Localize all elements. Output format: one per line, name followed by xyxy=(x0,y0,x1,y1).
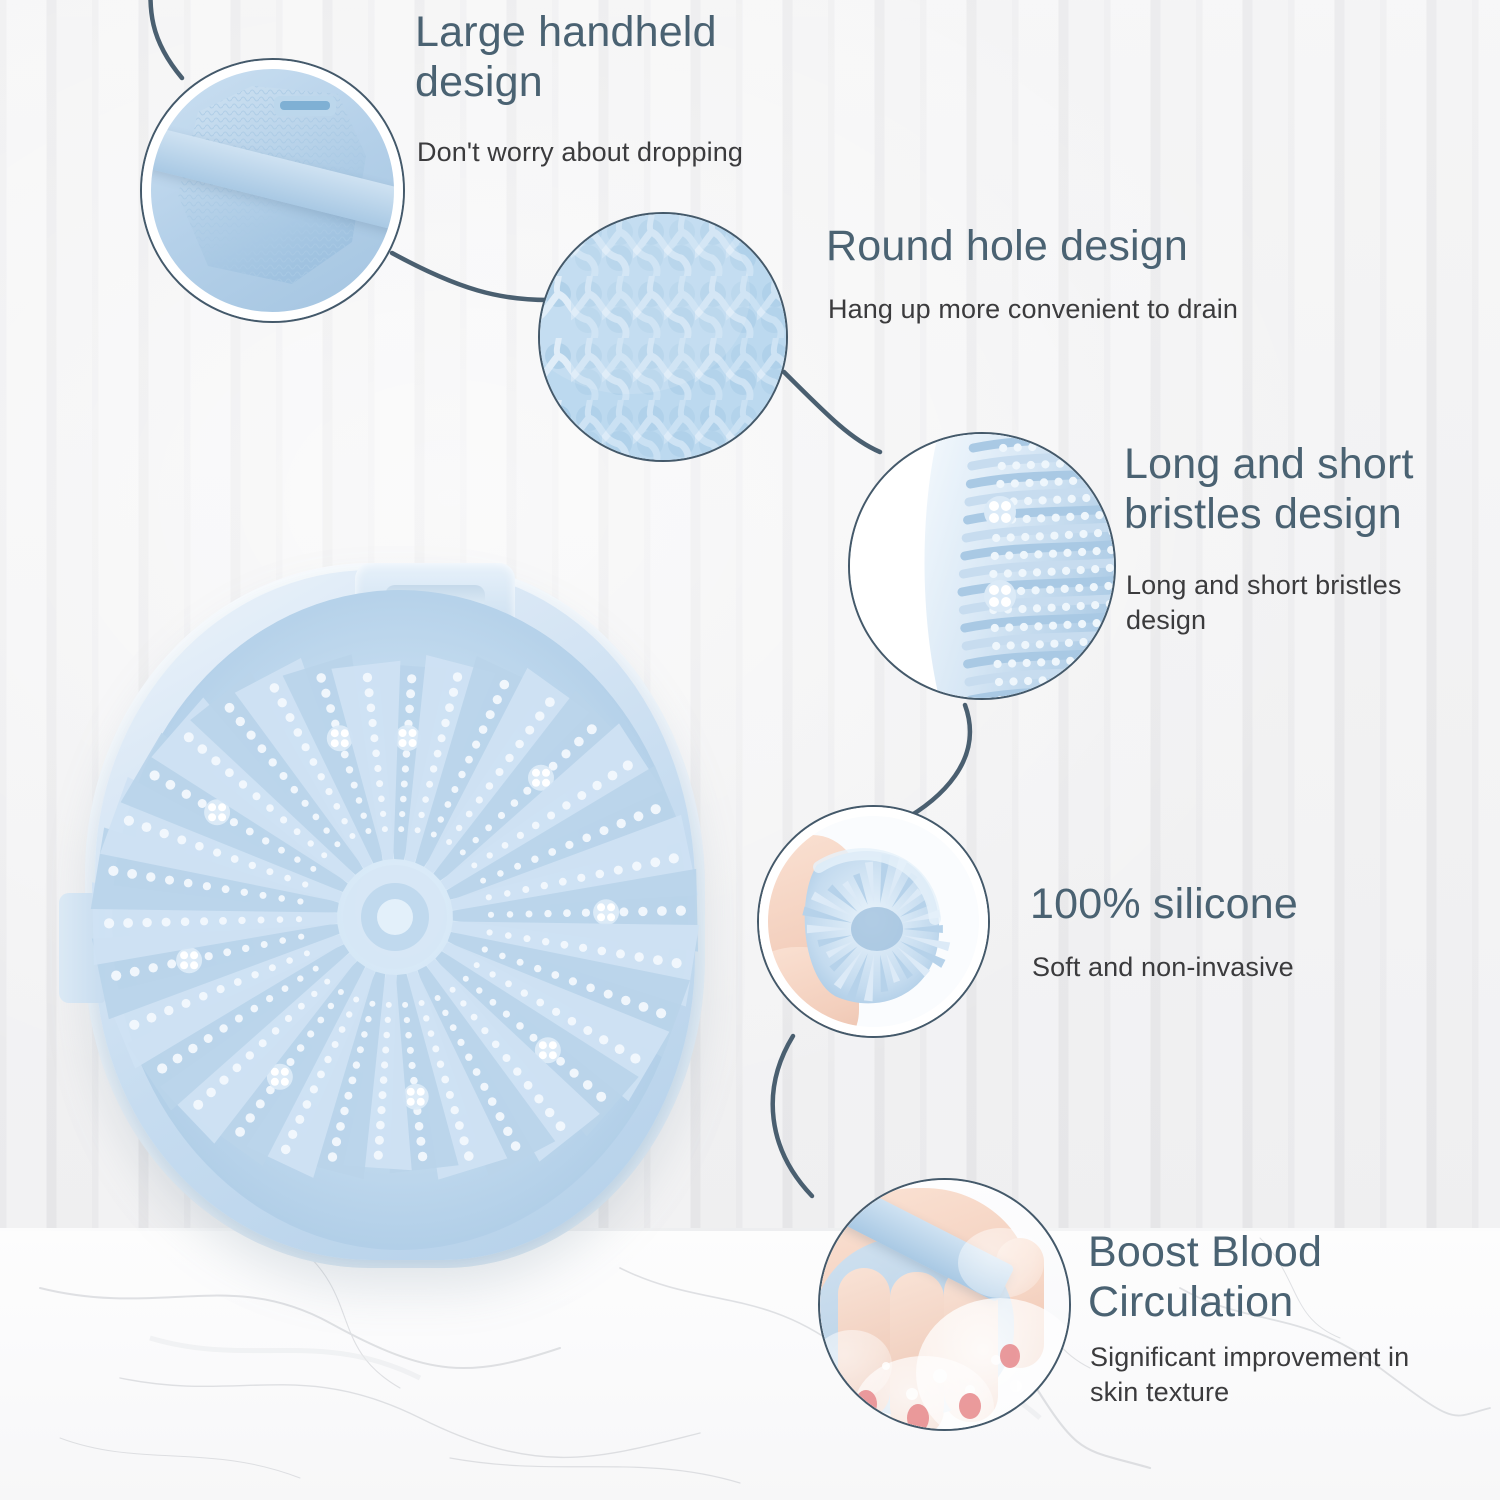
circle-white-ring xyxy=(850,434,1114,698)
feature-title-bristles: Long and short bristles design xyxy=(1124,440,1500,540)
infographic-canvas: Large handheld design Don't worry about … xyxy=(0,0,1500,1500)
callout-circle-bristles xyxy=(848,432,1116,700)
feature-title-round-hole: Round hole design xyxy=(826,222,1306,272)
feature-title-large-handheld: Large handheld design xyxy=(415,8,835,108)
callout-circle-circulation xyxy=(818,1178,1071,1431)
feature-subtitle-circulation: Significant improvement in skin texture xyxy=(1090,1340,1490,1409)
product-bristles xyxy=(55,545,735,1285)
callout-circle-large-handheld xyxy=(140,58,405,323)
feature-subtitle-large-handheld: Don't worry about dropping xyxy=(417,135,847,170)
circle-white-ring xyxy=(142,60,403,321)
circle-white-ring xyxy=(759,807,988,1036)
callout-circle-round-hole xyxy=(538,212,788,462)
feature-subtitle-silicone: Soft and non-invasive xyxy=(1032,950,1432,985)
main-product-image xyxy=(55,545,735,1285)
feature-subtitle-bristles: Long and short bristles design xyxy=(1126,568,1456,637)
feature-subtitle-round-hole: Hang up more convenient to drain xyxy=(828,292,1298,327)
feature-title-circulation: Boost Blood Circulation xyxy=(1088,1228,1468,1328)
feature-title-silicone: 100% silicone xyxy=(1030,880,1430,930)
callout-circle-silicone xyxy=(757,805,990,1038)
